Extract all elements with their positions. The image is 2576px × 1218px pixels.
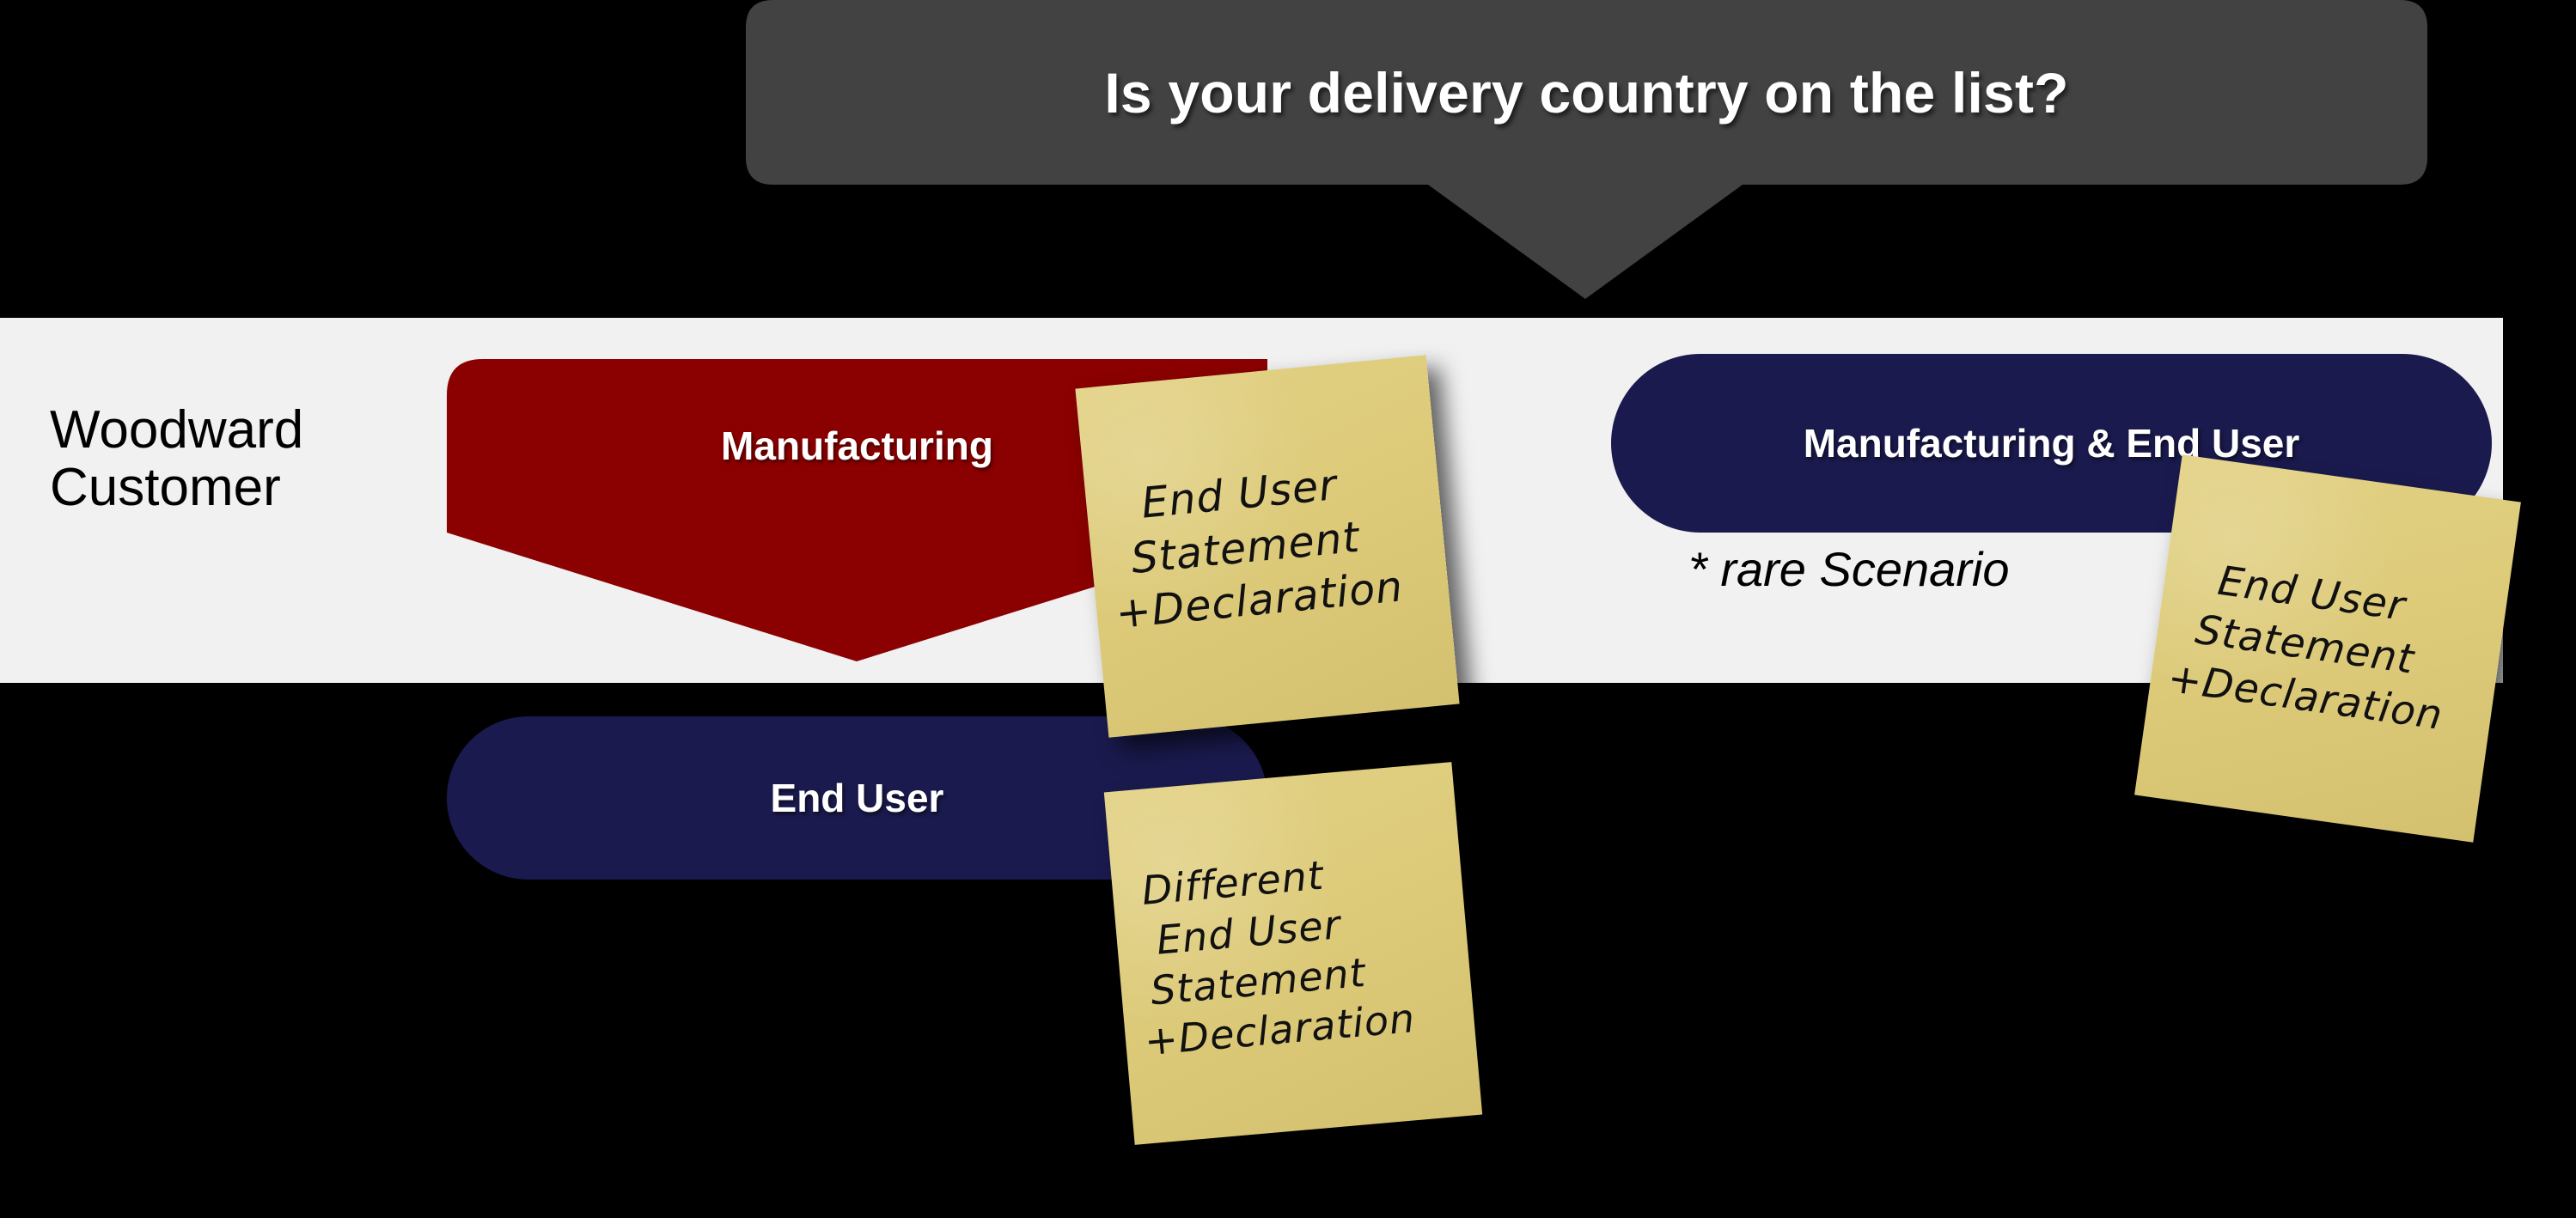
row-label-line-2: Customer [50, 460, 411, 517]
diagram-canvas: Is your delivery country on the list? Wo… [0, 0, 2576, 1218]
end-user-label: End User [771, 775, 944, 821]
row-label-line-1: Woodward [50, 402, 411, 460]
sticky-note-end-user: Different End User Statement +Declaratio… [1104, 762, 1482, 1145]
question-banner: Is your delivery country on the list? [746, 0, 2427, 299]
sticky-note-manufacturing: End User Statement +Declaration [1075, 355, 1459, 737]
question-banner-shape [746, 0, 2427, 299]
rare-scenario-annotation: * rare Scenario [1688, 541, 2010, 597]
row-label: Woodward Customer [50, 402, 411, 517]
manufacturing-end-user-label: Manufacturing & End User [1804, 420, 2300, 466]
sticky-note-manufacturing-end-user: End User Statement +Declaration [2134, 454, 2521, 842]
